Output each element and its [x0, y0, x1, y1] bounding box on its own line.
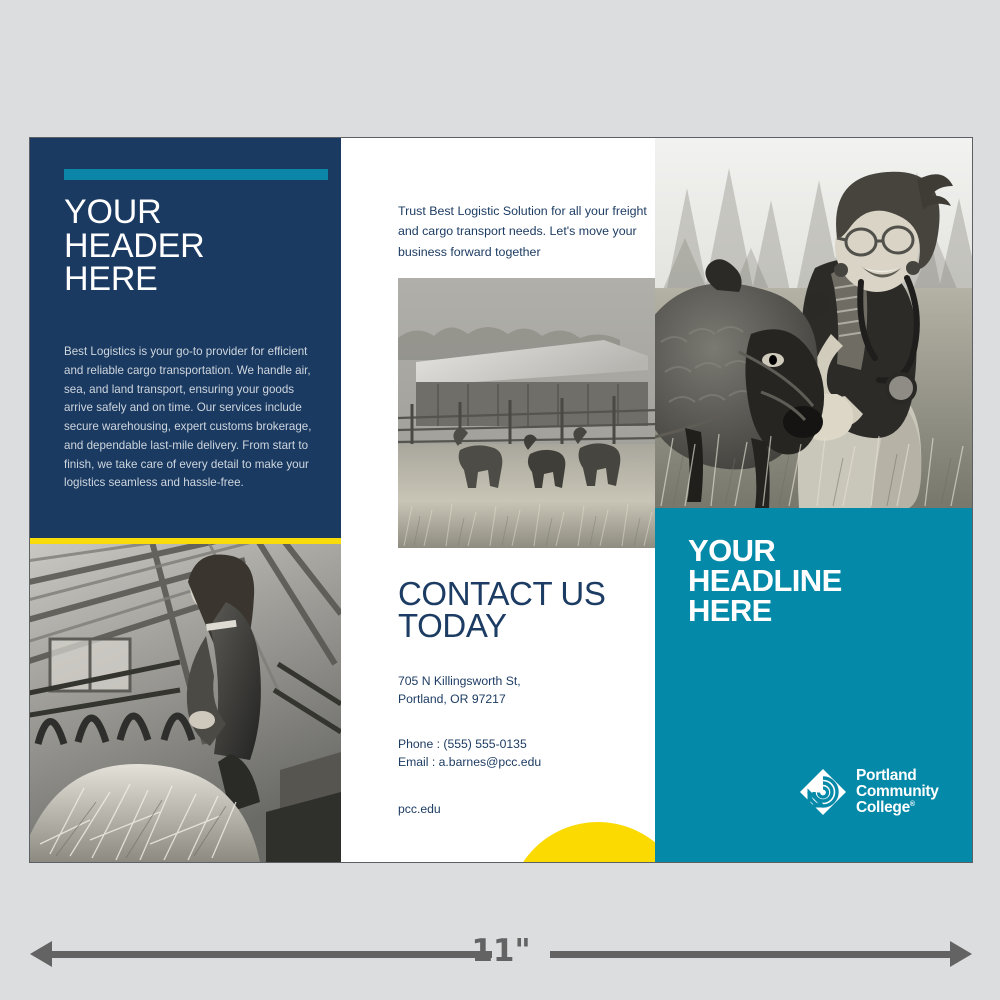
horses-pasture-photo	[398, 278, 655, 548]
right-panel-headline: YOUR HEADLINE HERE	[688, 536, 963, 626]
yellow-circle-decoration	[508, 822, 655, 862]
contact-address: 705 N Killingsworth St, Portland, OR 972…	[398, 672, 648, 709]
panel-middle: Trust Best Logistic Solution for all you…	[341, 138, 655, 862]
barn-hay-photo-illustration	[30, 544, 341, 862]
teal-accent-bar-icon	[64, 169, 328, 180]
pcc-logo[interactable]: Portland Community College®	[798, 764, 948, 820]
right-teal-background: YOUR HEADLINE HERE Portland Community Co…	[655, 508, 972, 862]
left-panel-header: YOUR HEADER HERE	[64, 196, 324, 297]
horses-pasture-photo-illustration	[398, 278, 655, 548]
pcc-logo-wordmark: Portland Community College®	[856, 768, 939, 815]
arrow-right-icon	[950, 941, 972, 967]
vet-sheep-photo	[655, 138, 972, 508]
width-ruler: 11"	[30, 930, 972, 974]
panel-left: YOUR HEADER HERE Best Logistics is your …	[30, 138, 341, 862]
brochure-sheet[interactable]: YOUR HEADER HERE Best Logistics is your …	[30, 138, 972, 862]
ruler-line-right	[550, 951, 950, 958]
pcc-registered-mark: ®	[910, 801, 915, 808]
vet-sheep-photo-illustration	[655, 138, 972, 508]
pcc-diamond-spiral-icon	[798, 767, 848, 817]
left-panel-body-text: Best Logistics is your go-to provider fo…	[64, 343, 318, 493]
panel-right: YOUR HEADLINE HERE Portland Community Co…	[655, 138, 972, 862]
middle-intro-text: Trust Best Logistic Solution for all you…	[398, 201, 653, 262]
canvas: YOUR HEADER HERE Best Logistics is your …	[0, 0, 1000, 1000]
contact-heading: CONTACT US TODAY	[398, 578, 655, 643]
barn-hay-photo	[30, 544, 341, 862]
contact-website: pcc.edu	[398, 802, 441, 816]
contact-phone-email: Phone : (555) 555-0135 Email : a.barnes@…	[398, 735, 648, 772]
